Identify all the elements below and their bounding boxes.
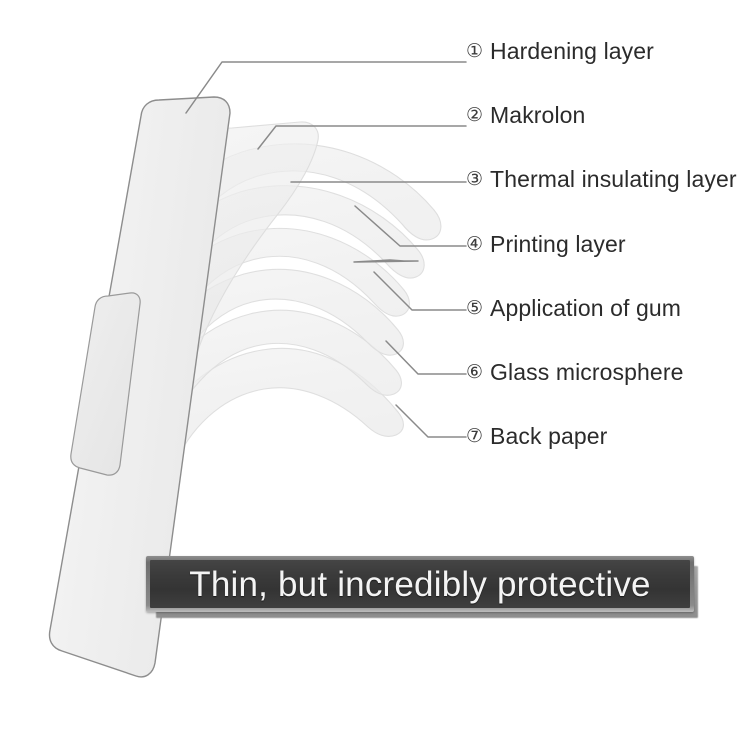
leader-line-7	[396, 405, 466, 437]
legend-label-6: Glass microsphere	[490, 361, 683, 384]
legend-item-2[interactable]: ② Makrolon	[466, 104, 585, 127]
legend-label-3: Thermal insulating layer	[490, 168, 737, 191]
tagline-banner: Thin, but incredibly protective	[146, 556, 706, 622]
legend-label-7: Back paper	[490, 425, 607, 448]
legend-number-1-icon: ①	[466, 42, 483, 61]
banner-frame: Thin, but incredibly protective	[146, 556, 694, 612]
legend-label-4: Printing layer	[490, 233, 626, 256]
banner-text: Thin, but incredibly protective	[189, 567, 650, 602]
legend-number-4-icon: ④	[466, 235, 483, 254]
diagram-canvas: ① Hardening layer ② Makrolon ③ Thermal i…	[0, 0, 750, 750]
legend-item-6[interactable]: ⑥ Glass microsphere	[466, 361, 683, 384]
legend-item-7[interactable]: ⑦ Back paper	[466, 425, 607, 448]
legend-number-3-icon: ③	[466, 170, 483, 189]
legend-number-7-icon: ⑦	[466, 427, 483, 446]
legend-label-1: Hardening layer	[490, 40, 654, 63]
legend-label-5: Application of gum	[490, 297, 681, 320]
legend-item-1[interactable]: ① Hardening layer	[466, 40, 654, 63]
legend-number-5-icon: ⑤	[466, 299, 483, 318]
legend-number-6-icon: ⑥	[466, 363, 483, 382]
legend-item-4[interactable]: ④ Printing layer	[466, 233, 626, 256]
legend-item-3[interactable]: ③ Thermal insulating layer	[466, 168, 737, 191]
legend-number-2-icon: ②	[466, 106, 483, 125]
banner-body: Thin, but incredibly protective	[150, 560, 690, 608]
legend-list: ① Hardening layer ② Makrolon ③ Thermal i…	[466, 0, 750, 470]
legend-item-5[interactable]: ⑤ Application of gum	[466, 297, 681, 320]
legend-label-2: Makrolon	[490, 104, 585, 127]
